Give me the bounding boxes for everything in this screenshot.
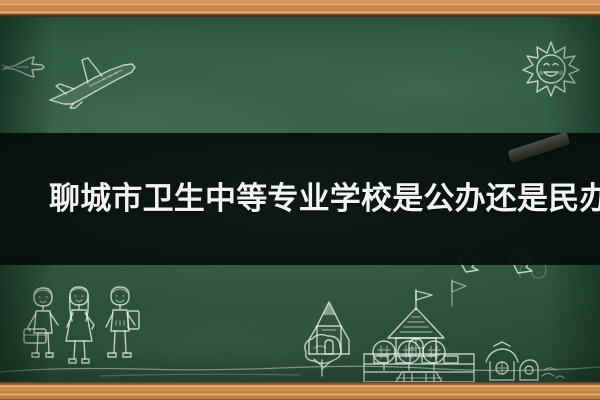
chalkboard-banner: 聊城市卫生中等专业学校是公办还是民办 xyxy=(0,0,600,400)
wooden-frame-top xyxy=(0,0,600,17)
page-title: 聊城市卫生中等专业学校是公办还是民办 xyxy=(49,133,559,265)
wooden-frame-bottom xyxy=(0,382,600,400)
